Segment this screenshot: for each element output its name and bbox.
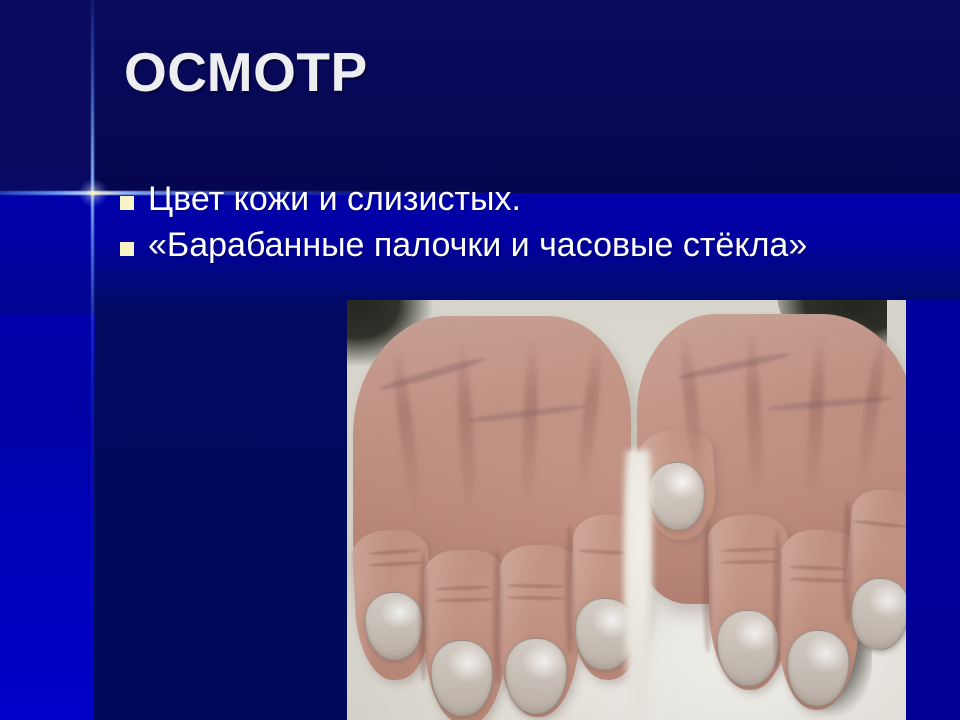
background-left-column <box>96 313 350 720</box>
square-bullet-icon <box>120 196 134 210</box>
list-item: Цвет кожи и слизистых. <box>120 180 820 220</box>
background-left-gradient-wedge <box>0 0 93 720</box>
clubbed-fingers-photograph <box>347 300 906 720</box>
square-bullet-icon <box>120 242 134 256</box>
photo-finger-groove <box>773 530 782 670</box>
photo-finger-groove <box>565 525 574 655</box>
photo-gap-between-hands <box>623 450 653 720</box>
bullet-list: Цвет кожи и слизистых. «Барабанные палоч… <box>120 180 820 272</box>
list-item: «Барабанные палочки и часовые стёкла» <box>120 226 820 266</box>
photo-finger-groove <box>419 552 428 682</box>
crosshair-glow-icon <box>78 179 108 207</box>
vertical-accent-line <box>91 0 94 720</box>
list-item-label: «Барабанные палочки и часовые стёкла» <box>148 226 820 266</box>
photo-finger-groove <box>703 518 712 653</box>
photo-finger-groove <box>843 500 852 625</box>
presentation-slide: ОСМОТР Цвет кожи и слизистых. «Барабанны… <box>0 0 960 720</box>
page-title: ОСМОТР <box>124 44 884 102</box>
photo-finger-groove <box>493 550 502 685</box>
list-item-label: Цвет кожи и слизистых. <box>148 180 820 220</box>
background-right-strip <box>906 300 960 720</box>
